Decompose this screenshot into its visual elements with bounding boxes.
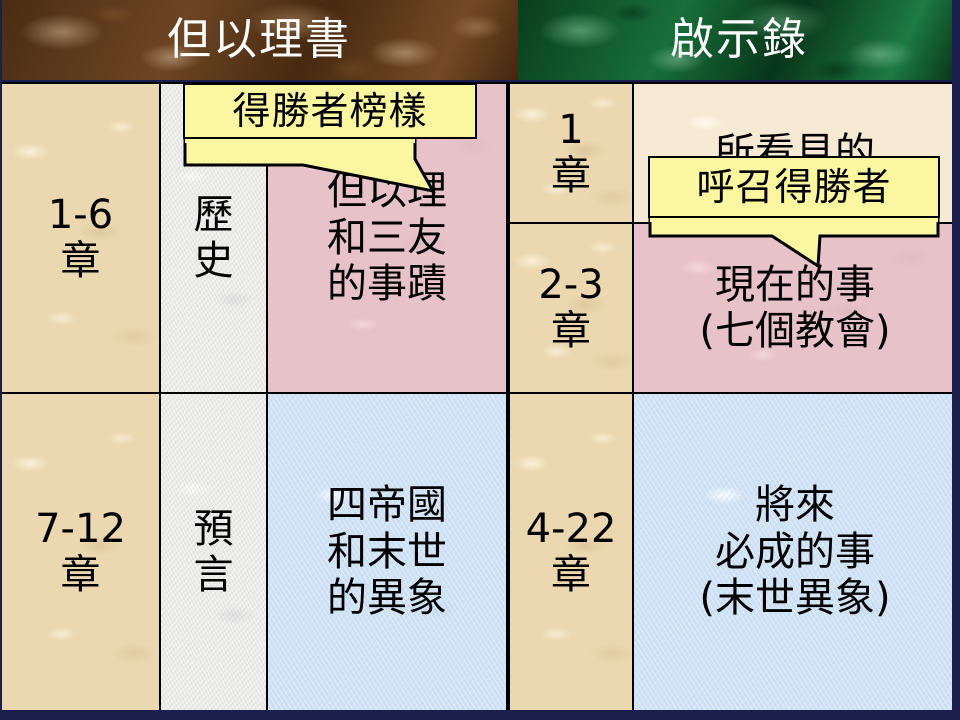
slide-border-bottom <box>0 710 960 720</box>
cell-line: 將來 <box>634 482 956 528</box>
cell-line: 章 <box>2 238 159 284</box>
callout-call-overcomers-bubble: 呼召得勝者 <box>648 156 940 218</box>
callout-call-overcomers-label: 呼召得勝者 <box>696 168 891 206</box>
cell-line: 章 <box>510 308 632 354</box>
slide-canvas: 但以理書 啟示錄 1-6 章 歷 史 <box>0 0 960 720</box>
cell-line: 四帝國 <box>268 482 506 528</box>
cell-line: 必成的事 <box>634 529 956 575</box>
callout-tail-icon <box>648 214 944 268</box>
daniel-row-1-kind-cell: 預 言 <box>160 393 267 711</box>
cell-line: 現在的事 <box>634 262 956 308</box>
cell-line: 的異象 <box>268 575 506 621</box>
cell-line: 章 <box>510 552 632 598</box>
cell-line: 1-6 <box>2 192 159 238</box>
header-daniel: 但以理書 <box>0 0 518 80</box>
header-revelation-title: 啟示錄 <box>670 18 808 62</box>
cell-line: 預 <box>161 506 266 552</box>
callout-overcomer-example-bubble: 得勝者榜樣 <box>183 83 477 139</box>
cell-line: 的事蹟 <box>268 261 506 307</box>
cell-line: 歷 <box>161 192 266 238</box>
revelation-row-1-chapter-cell: 2-3 章 <box>509 223 633 393</box>
cell-line: (七個教會) <box>634 308 956 354</box>
cell-line: 言 <box>161 552 266 598</box>
callout-call-overcomers[interactable]: 呼召得勝者 <box>648 156 944 268</box>
cell-line: 章 <box>510 153 632 199</box>
cell-line: (末世異象) <box>634 575 956 621</box>
slide-border-right <box>952 0 960 720</box>
cell-line: 章 <box>2 552 159 598</box>
callout-tail-icon <box>183 135 483 193</box>
table-row: 7-12 章 預 言 四帝國 和末世 的異象 <box>1 393 507 711</box>
cell-line: 史 <box>161 238 266 284</box>
cell-line: 1 <box>510 107 632 153</box>
cell-line: 4-22 <box>510 506 632 552</box>
header-daniel-title: 但以理書 <box>167 18 351 62</box>
cell-line: 和三友 <box>268 215 506 261</box>
slide-border-left <box>0 0 2 720</box>
revelation-row-0-chapter-cell: 1 章 <box>509 83 633 223</box>
table-row: 4-22 章 將來 必成的事 (末世異象) <box>509 393 957 711</box>
revelation-row-2-chapter-cell: 4-22 章 <box>509 393 633 711</box>
revelation-row-2-description-cell: 將來 必成的事 (末世異象) <box>633 393 957 711</box>
callout-overcomer-example-label: 得勝者榜樣 <box>232 92 427 130</box>
cell-line: 和末世 <box>268 529 506 575</box>
cell-line: 2-3 <box>510 262 632 308</box>
daniel-row-1-description-cell: 四帝國 和末世 的異象 <box>267 393 507 711</box>
header-revelation: 啟示錄 <box>518 0 960 80</box>
callout-overcomer-example[interactable]: 得勝者榜樣 <box>183 83 483 193</box>
daniel-row-1-chapter-cell: 7-12 章 <box>1 393 160 711</box>
daniel-row-0-chapter-cell: 1-6 章 <box>1 83 160 393</box>
cell-line: 7-12 <box>2 506 159 552</box>
